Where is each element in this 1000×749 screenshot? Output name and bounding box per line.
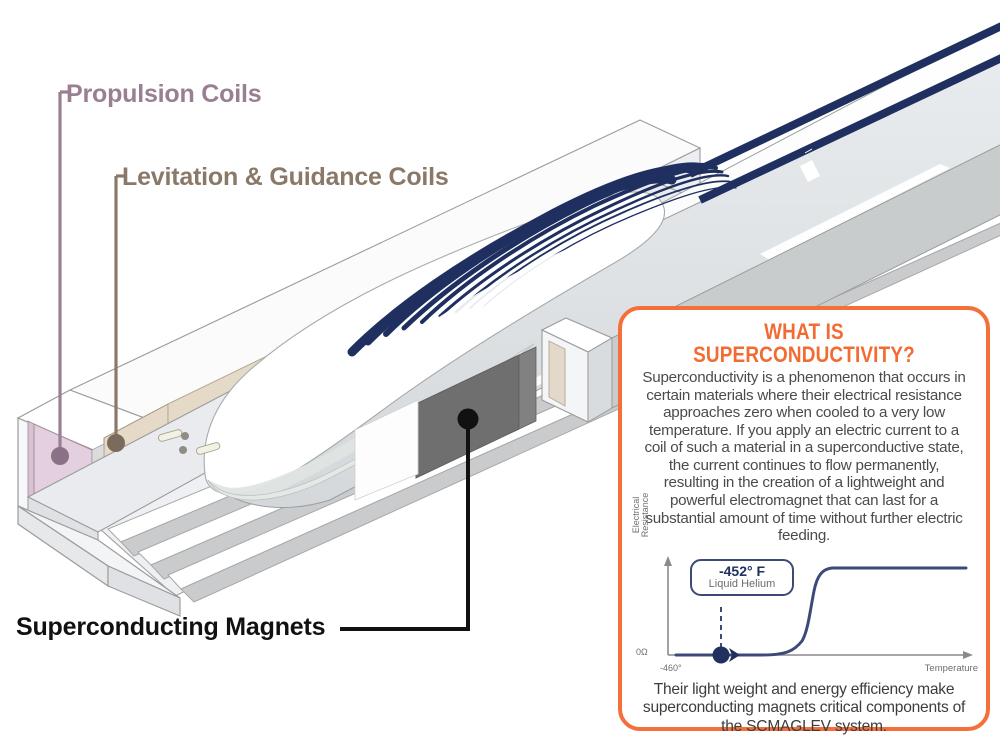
superconducting-magnet-block-shade [519, 347, 536, 429]
guideway-far-cut-side [588, 338, 612, 422]
liquid-helium-temperature: -452° F [694, 564, 790, 579]
chart-y-tick-zero: 0Ω [636, 647, 648, 657]
resistance-temperature-chart: Electrical Resistance 0Ω -460° Temperatu… [634, 551, 982, 679]
chart-x-tick-min: -460° [660, 663, 682, 673]
label-superconducting-magnets: Superconducting Magnets [16, 613, 325, 642]
callout-title: WHAT IS SUPERCONDUCTIVITY? [658, 320, 950, 366]
chart-liquid-helium-marker [713, 646, 730, 663]
callout-body-text: Superconductivity is a phenomenon that o… [634, 369, 974, 544]
liquid-helium-annotation: -452° F Liquid Helium [690, 559, 794, 597]
label-propulsion-coils: Propulsion Coils [66, 80, 261, 109]
superconductivity-callout-box: WHAT IS SUPERCONDUCTIVITY? Superconducti… [618, 306, 990, 731]
liquid-helium-sublabel: Liquid Helium [694, 578, 790, 590]
guideway-far-cut-coil [549, 341, 565, 406]
propulsion-coil-panel-edge [28, 421, 34, 500]
label-levitation-guidance-coils: Levitation & Guidance Coils [122, 163, 449, 192]
chart-y-axis-title: Electrical Resistance [632, 473, 651, 557]
chart-plot-area [634, 551, 982, 679]
chart-x-axis-title: Temperature [925, 663, 978, 674]
callout-footer-text: Their light weight and energy efficiency… [634, 681, 974, 737]
chart-y-axis [664, 556, 672, 655]
infographic-canvas: Propulsion Coils Levitation & Guidance C… [0, 0, 1000, 749]
